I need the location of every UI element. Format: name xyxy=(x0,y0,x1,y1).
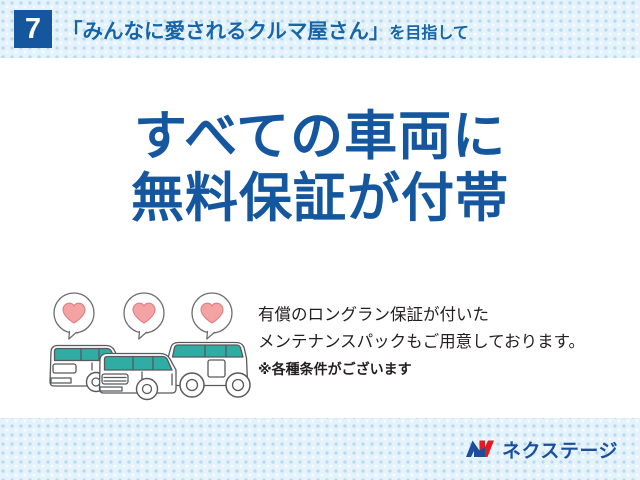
body-copy: 有償のロングラン保証が付いた メンテナンスパックもご用意しております。 ※各種条… xyxy=(258,302,630,382)
headline: すべての車両に 無料保証が付帯 xyxy=(0,106,640,230)
header-title: 「みんなに愛されるクルマ屋さん」を目指して xyxy=(62,14,469,44)
brand-lockup: ネクステージ xyxy=(465,436,618,463)
cars-illustration-svg xyxy=(40,290,255,405)
cars-illustration xyxy=(40,290,255,405)
nexstage-n-logo-icon xyxy=(465,438,495,460)
lower-content-row: 有償のロングラン保証が付いた メンテナンスパックもご用意しております。 ※各種条… xyxy=(0,290,640,410)
header-bar: 7 「みんなに愛されるクルマ屋さん」を目指して xyxy=(0,0,640,58)
brand-name: ネクステージ xyxy=(502,436,618,463)
minivan-car xyxy=(100,354,177,400)
suv-car xyxy=(168,343,250,398)
headline-line-1: すべての車両に xyxy=(0,106,640,168)
headline-line-2: 無料保証が付帯 xyxy=(0,168,640,230)
copy-line-3-note: ※各種条件がございます xyxy=(258,356,630,382)
content-panel: すべての車両に 無料保証が付帯 xyxy=(0,58,640,418)
copy-line-1: 有償のロングラン保証が付いた xyxy=(258,302,630,329)
header-title-suffix: を目指して xyxy=(389,25,469,42)
promo-banner: 7 「みんなに愛されるクルマ屋さん」を目指して すべての車両に 無料保証が付帯 xyxy=(0,0,640,480)
section-number-badge: 7 xyxy=(14,10,52,48)
header-title-quoted: 「みんなに愛されるクルマ屋さん」 xyxy=(62,20,389,43)
copy-line-2: メンテナンスパックもご用意しております。 xyxy=(258,329,630,356)
footer-bar: ネクステージ xyxy=(0,418,640,480)
